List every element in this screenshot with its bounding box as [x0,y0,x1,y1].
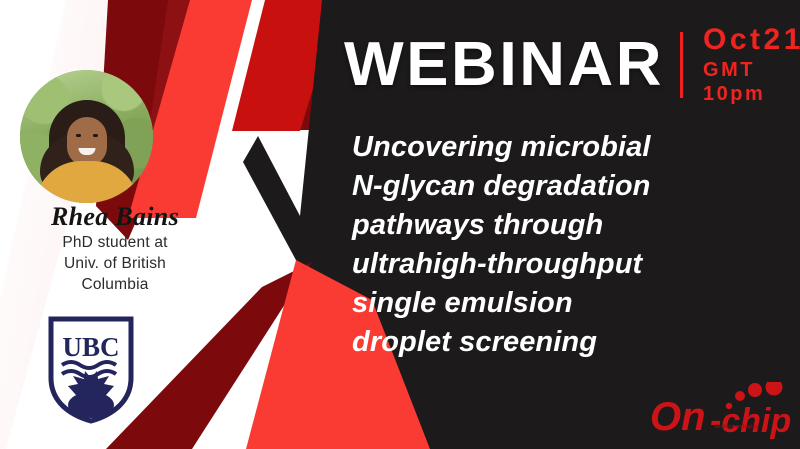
ubc-logo: UBC [48,316,134,424]
speaker-role-line: Univ. of British [12,253,218,274]
ubc-letters: UBC [62,332,119,362]
talk-title-line: single emulsion [352,284,792,323]
talk-title: Uncovering microbial N-glycan degradatio… [352,128,792,362]
speaker-avatar [20,70,153,203]
avatar-face [67,117,107,166]
onchip-word-on: On [650,395,706,439]
onchip-droplet-medium [748,383,762,397]
webinar-poster: Rhea Bains PhD student at Univ. of Briti… [0,0,800,449]
talk-title-line: N-glycan degradation [352,167,792,206]
on-chip-logo: On -chip [648,382,794,440]
speaker-role-line: Columbia [12,274,218,295]
webinar-header: WEBINAR Oct21 GMT 10pm [344,26,800,104]
onchip-droplet-small [735,391,745,401]
onchip-droplet-large [766,382,783,396]
talk-title-line: Uncovering microbial [352,128,792,167]
avatar-eye-right [93,134,98,137]
talk-title-line: droplet screening [352,323,792,362]
ubc-sun-disc [68,392,114,418]
avatar-eye-left [76,134,81,137]
speaker-role-line: PhD student at [12,232,218,253]
talk-title-line: pathways through [352,206,792,245]
webinar-time: GMT 10pm [703,58,800,106]
talk-title-line: ultrahigh-throughput [352,245,792,284]
header-divider [680,32,683,98]
speaker-name: Rhea Bains [0,202,230,232]
speaker-role: PhD student at Univ. of British Columbia [12,232,218,295]
webinar-date: Oct21 [703,24,800,56]
onchip-word-chip: -chip [710,402,791,440]
webinar-label: WEBINAR [344,34,664,96]
onchip-tagline: Biotechnologies [715,424,759,430]
date-block: Oct21 GMT 10pm [703,24,800,106]
